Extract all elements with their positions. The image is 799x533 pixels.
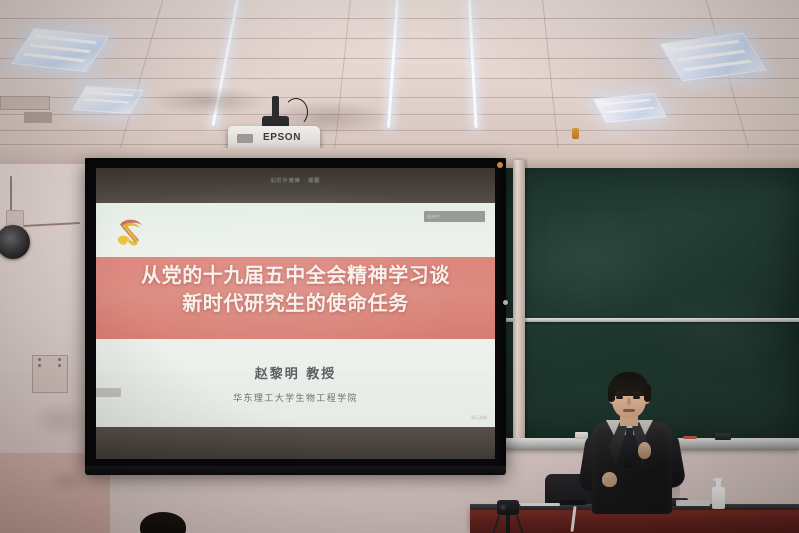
slide-title: 从党的十九届五中全会精神学习谈 新时代研究生的使命任务 bbox=[96, 261, 495, 318]
screen-bottom-bar bbox=[85, 466, 506, 475]
lecturer-eye-right bbox=[633, 396, 640, 399]
ceiling-speaker-grille bbox=[24, 112, 52, 123]
slide-presenter-name: 赵黎明 教授 bbox=[96, 363, 495, 382]
lecturer-hand-right bbox=[638, 442, 651, 459]
lecturer-hair-right bbox=[644, 384, 651, 402]
hand-sanitizer-bottle bbox=[712, 487, 725, 509]
lecturer bbox=[576, 372, 688, 512]
lecturer-mouth bbox=[623, 409, 635, 412]
lecturer-eye-left bbox=[616, 396, 623, 399]
slide-watermark: 演示文稿 bbox=[471, 415, 487, 421]
blackboard-eraser-2 bbox=[715, 433, 731, 440]
tripod-column bbox=[506, 514, 510, 533]
slide-title-line-1: 从党的十九届五中全会精神学习谈 bbox=[96, 261, 495, 289]
projection-screen: 幻灯片放映 · 视图 bbox=[85, 158, 506, 471]
projection-screen-surface: 幻灯片放映 · 视图 bbox=[96, 168, 495, 459]
lecture-hall-photo: EPSON 幻灯片放映 · 视图 bbox=[0, 0, 799, 533]
ceiling-panel-light-4 bbox=[593, 93, 667, 122]
ceiling-panel-light-3 bbox=[659, 33, 766, 82]
lecturer-brow-left bbox=[615, 392, 624, 394]
desk-cable-run bbox=[520, 503, 560, 506]
ceiling-panel-light-1 bbox=[11, 28, 109, 72]
ceiling-panel-light-2 bbox=[72, 86, 143, 114]
electrical-box bbox=[32, 355, 68, 393]
lecturer-nose bbox=[627, 398, 631, 405]
chalkboard-left-post bbox=[513, 160, 525, 443]
ceiling bbox=[0, 0, 799, 152]
ceiling-strip-light-right bbox=[468, 0, 478, 128]
powerpoint-slide: 放映中 从党的十九届五中全会精神学习谈 新时代研究生的使命任务 赵黎明 教授 华… bbox=[96, 203, 495, 427]
slide-title-line-2: 新时代研究生的使命任务 bbox=[96, 289, 495, 317]
screen-corner-hook bbox=[497, 162, 503, 168]
sprinkler-head bbox=[572, 128, 579, 139]
chalkboard-top-rail bbox=[505, 155, 799, 169]
screen-side-clip bbox=[503, 300, 508, 305]
slide-affiliation: 华东理工大学生物工程学院 bbox=[96, 391, 495, 404]
slideshow-left-control[interactable] bbox=[96, 388, 121, 397]
projector-vent bbox=[237, 134, 253, 143]
slideshow-overlay-toolbar[interactable]: 放映中 bbox=[424, 211, 485, 222]
projector-brand-label: EPSON bbox=[263, 132, 301, 143]
slideshow-overlay-label: 放映中 bbox=[427, 214, 440, 220]
ceiling-vent bbox=[0, 96, 50, 110]
lecturer-hair-left bbox=[608, 384, 615, 402]
projector-cable bbox=[284, 98, 308, 126]
slide-show-status-text: 幻灯片放映 · 视图 bbox=[271, 177, 320, 184]
screen-letterbox-top: 幻灯片放映 · 视图 bbox=[96, 168, 495, 203]
lecturer-brow-right bbox=[632, 392, 641, 394]
camera-lens-icon bbox=[499, 503, 507, 511]
slide-footer-area bbox=[96, 339, 495, 427]
chalkboard-center-rail bbox=[505, 318, 799, 322]
cpc-emblem-icon bbox=[113, 215, 149, 249]
screen-letterbox-bottom bbox=[96, 427, 495, 459]
ceiling-strip-light-center bbox=[387, 0, 399, 128]
lecturer-hand-left bbox=[602, 472, 617, 487]
